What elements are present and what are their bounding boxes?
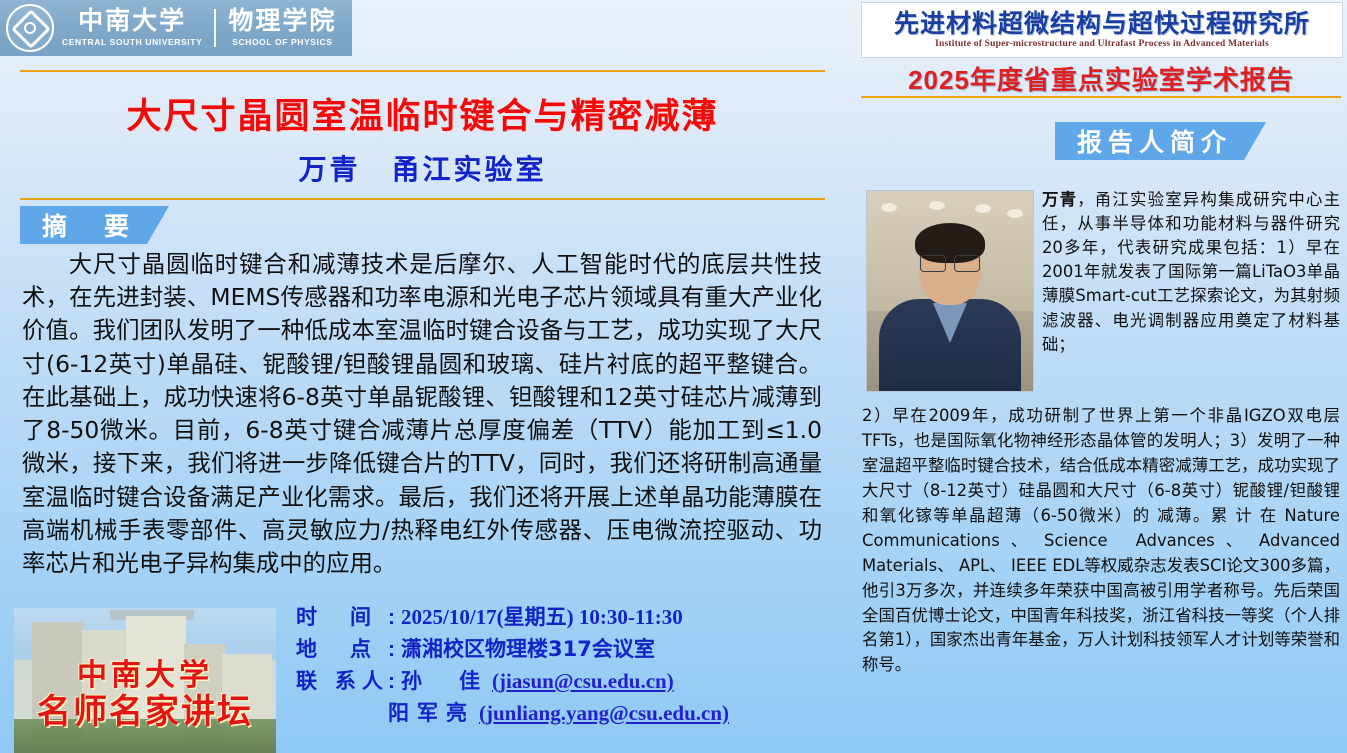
event-time-value: 2025/10/17(星期五) 10:30-11:30 [401, 602, 683, 634]
contact-2-name: 阳军亮 [388, 698, 475, 730]
forum-line-1: 中南大学 [14, 660, 276, 692]
divider-rule-top [20, 70, 825, 72]
talk-title: 大尺寸晶圆室温临时键合与精密减薄 [20, 88, 825, 139]
divider-rule-mid [20, 198, 825, 200]
bio-side-text: ，甬江实验室异构集成研究中心主任，从事半导体和功能材料与器件研究20多年，代表研… [1042, 190, 1340, 354]
event-place-row: 地 点 : 潇湘校区物理楼317会议室 [296, 634, 836, 666]
speaker-portrait [866, 190, 1034, 392]
institute-name-en: Institute of Super-microstructure and Ul… [862, 39, 1342, 49]
school-name-en: SCHOOL OF PHYSICS [232, 38, 332, 47]
portrait-arms [889, 357, 1011, 381]
event-contact-row-2: 阳军亮 (junliang.yang@csu.edu.cn) [296, 698, 836, 730]
colon-contact: : [388, 666, 395, 698]
portrait-light-1 [881, 203, 897, 212]
school-name-cn: 物理学院 [228, 9, 336, 34]
event-place-label: 地 点 [296, 634, 388, 666]
abstract-section-tag: 摘 要 [20, 206, 169, 244]
portrait-light-2 [929, 201, 945, 210]
institute-name-cn: 先进材料超微结构与超快过程研究所 [862, 11, 1342, 37]
university-name-block: 中南大学 CENTRAL SOUTH UNIVERSITY [62, 9, 202, 47]
forum-banner-image: 中南大学 名师名家讲坛 [14, 608, 276, 753]
bio-text-beside-photo: 万青，甬江实验室异构集成研究中心主任，从事半导体和功能材料与器件研究20多年，代… [1042, 188, 1340, 357]
school-name-block: 物理学院 SCHOOL OF PHYSICS [228, 9, 336, 47]
portrait-light-4 [1007, 209, 1023, 218]
csu-emblem-icon [6, 4, 54, 52]
talk-speaker: 万青 甬江实验室 [20, 148, 825, 188]
event-place-value: 潇湘校区物理楼317会议室 [401, 634, 655, 666]
colon-place: : [388, 634, 395, 666]
university-logo-bar: 中南大学 CENTRAL SOUTH UNIVERSITY 物理学院 SCHOO… [0, 0, 352, 56]
forum-line-2: 名师名家讲坛 [14, 694, 276, 731]
bio-speaker-name: 万青 [1042, 190, 1077, 209]
university-name-cn: 中南大学 [78, 9, 186, 34]
event-contact-label: 联 系人 [296, 666, 388, 698]
event-time-label: 时 间 [296, 602, 388, 634]
university-names: 中南大学 CENTRAL SOUTH UNIVERSITY 物理学院 SCHOO… [62, 9, 336, 47]
report-series-title: 2025年度省重点实验室学术报告 [861, 60, 1341, 97]
bio-text-full-width: 2）早在2009年，成功研制了世界上第一个非晶IGZO双电层TFTs，也是国际氧… [862, 404, 1340, 678]
university-name-en: CENTRAL SOUTH UNIVERSITY [62, 38, 202, 47]
portrait-glasses-icon [920, 255, 980, 270]
bio-section-tag: 报告人简介 [1055, 122, 1266, 160]
event-contact-row: 联 系人 : 孙 佳 (jiasun@csu.edu.cn) [296, 666, 836, 698]
abstract-body: 大尺寸晶圆临时键合和减薄技术是后摩尔、人工智能时代的底层共性技术，在先进封装、M… [22, 248, 822, 580]
logo-divider [214, 9, 216, 47]
forum-title-overlay: 中南大学 名师名家讲坛 [14, 660, 276, 731]
seminar-poster: 中南大学 CENTRAL SOUTH UNIVERSITY 物理学院 SCHOO… [0, 0, 1347, 753]
contact-2-email-link[interactable]: (junliang.yang@csu.edu.cn) [479, 698, 729, 730]
portrait-light-3 [975, 204, 991, 213]
event-time-row: 时 间 : 2025/10/17(星期五) 10:30-11:30 [296, 602, 836, 634]
institute-header: 先进材料超微结构与超快过程研究所 Institute of Super-micr… [861, 2, 1343, 58]
event-details: 时 间 : 2025/10/17(星期五) 10:30-11:30 地 点 : … [296, 602, 836, 730]
colon-time: : [388, 602, 395, 634]
contact-1-email-link[interactable]: (jiasun@csu.edu.cn) [492, 666, 674, 698]
contact-1-name: 孙 佳 [401, 666, 488, 698]
divider-rule-right [861, 96, 1341, 98]
